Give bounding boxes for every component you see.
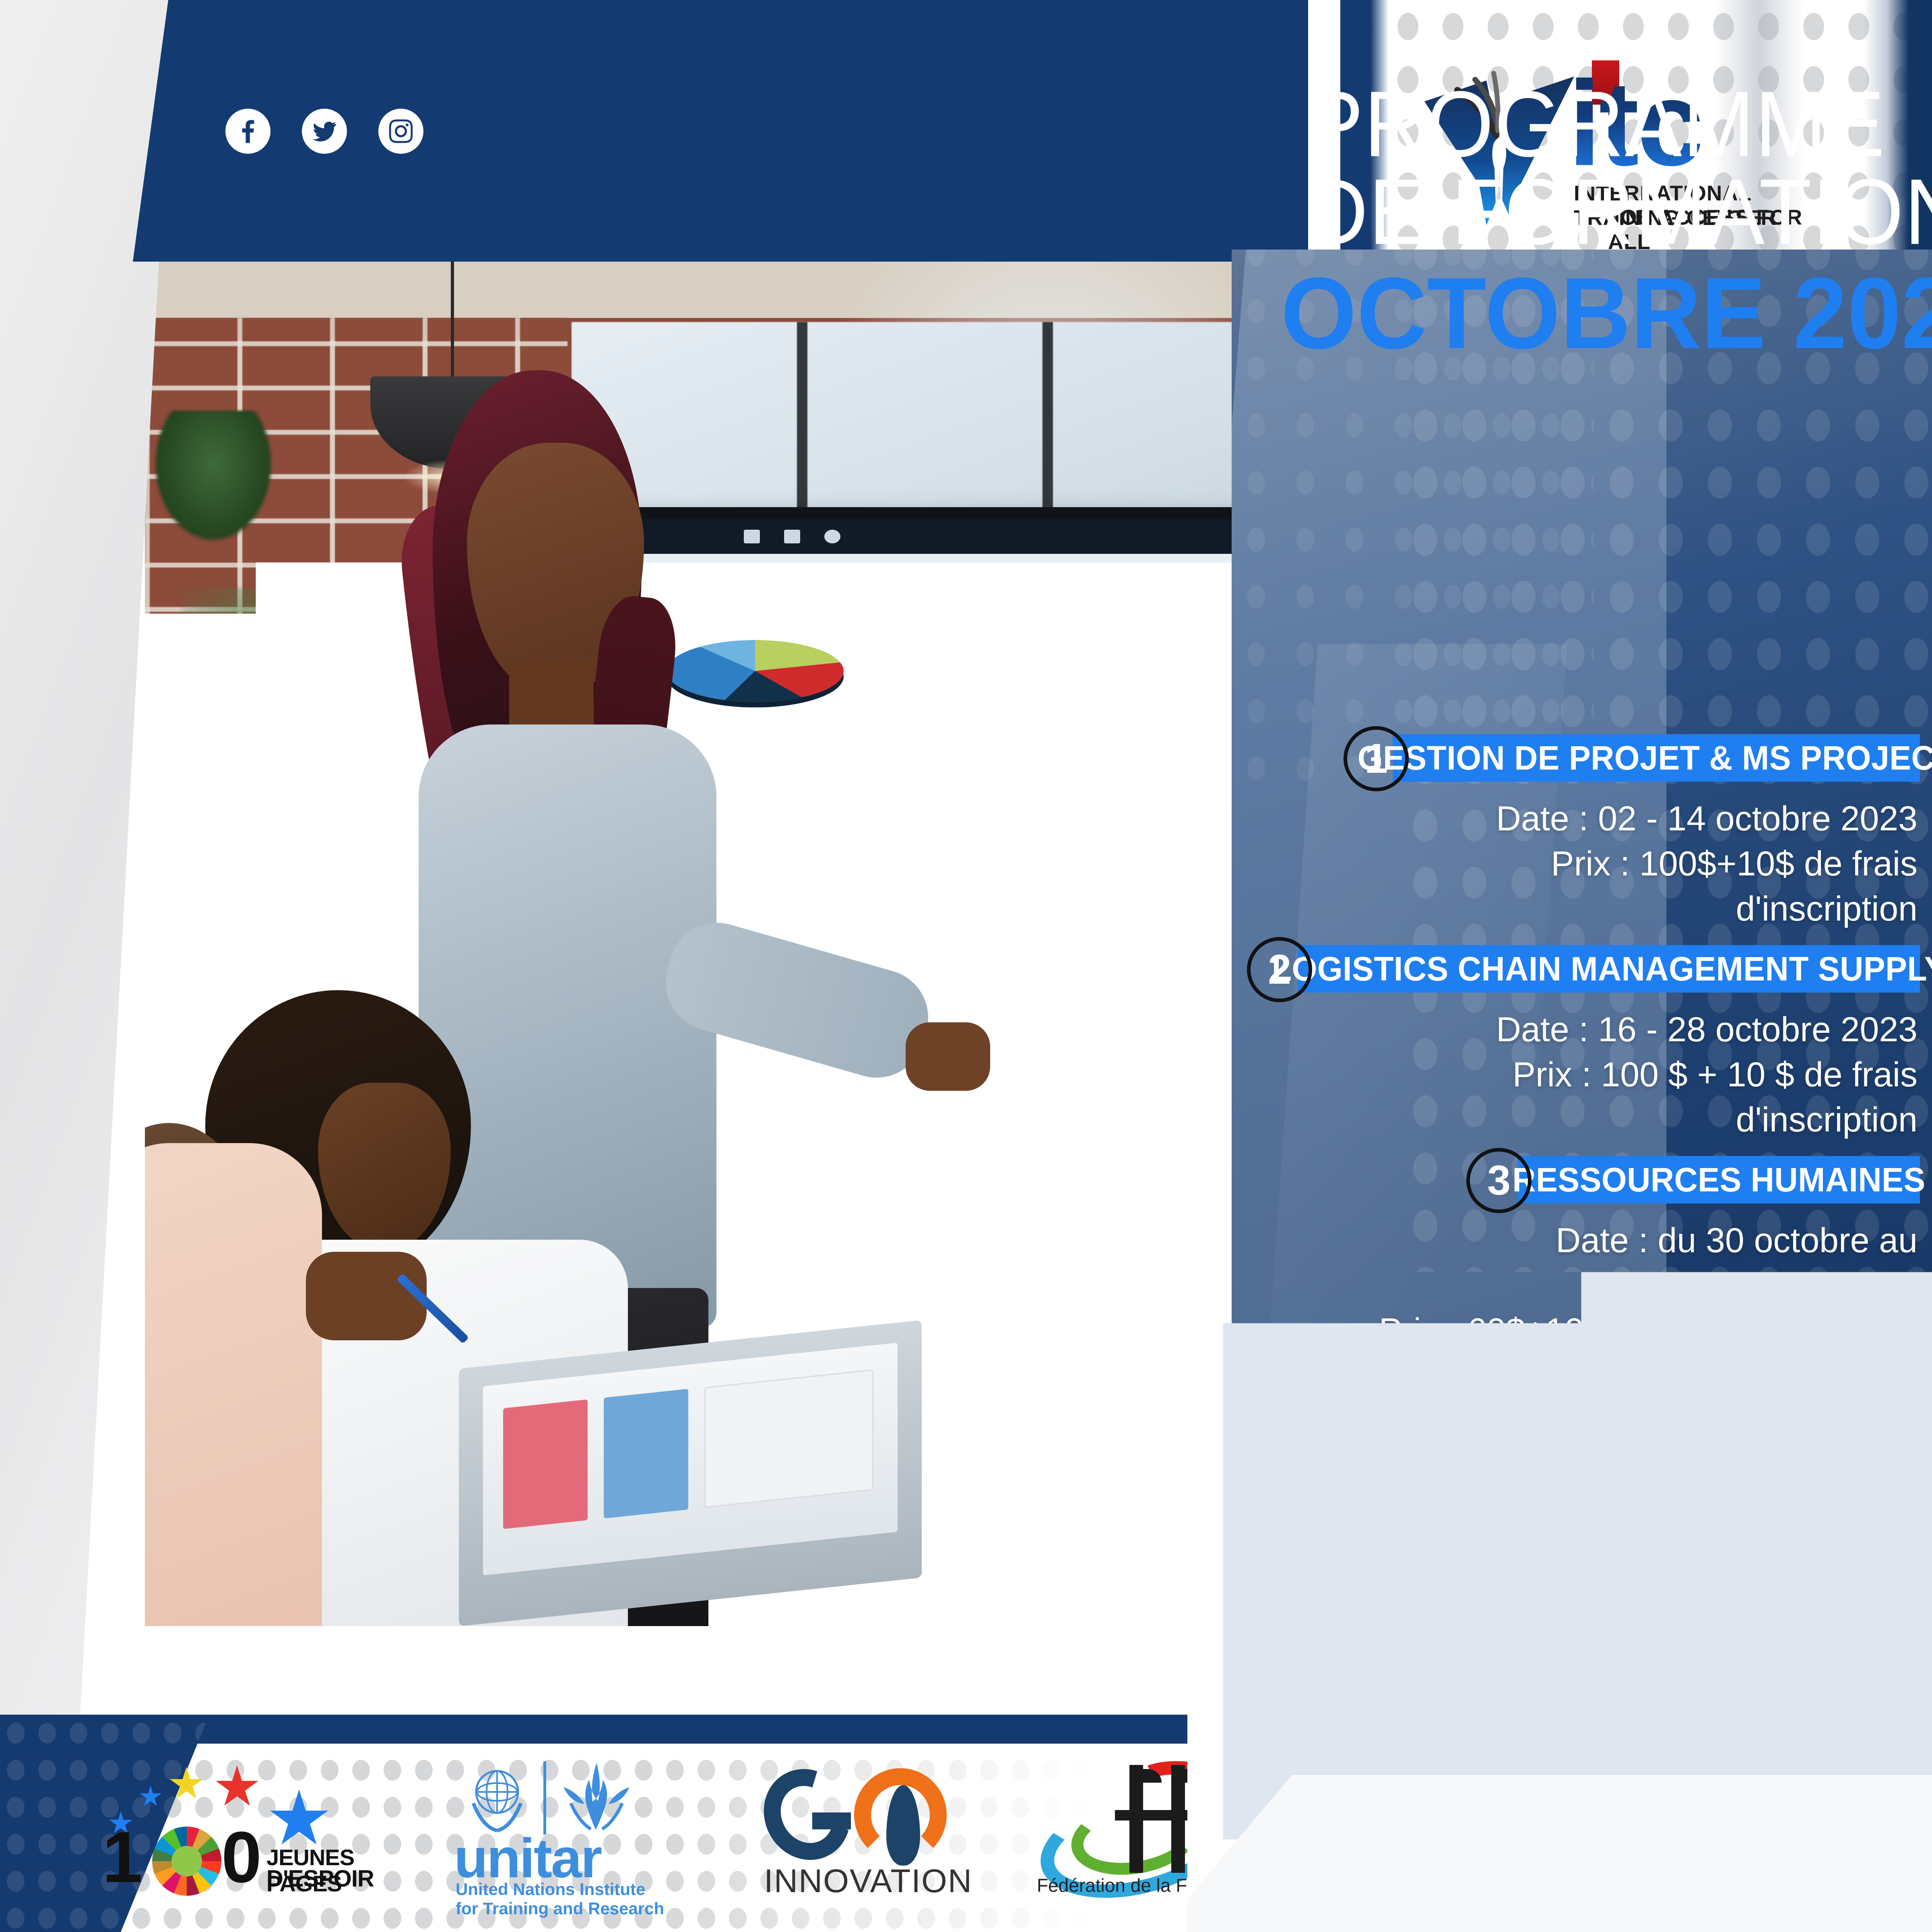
facebook-icon[interactable]: [225, 109, 270, 154]
pie-chart-small: [872, 617, 985, 729]
poster-root: itc INTERNATIONAL TRAINING CENTER JOB AC…: [0, 0, 1932, 1932]
partner-number-0: 0: [221, 1827, 262, 1888]
course-date-2: 4 Novembre 2023.: [1224, 1263, 1918, 1308]
address-goma: Boulevard Kanya Mulanga,: [1540, 1538, 1918, 1573]
ffp-letter-f2-bar: [1157, 1810, 1187, 1821]
unitar-wordmark: unitar: [454, 1831, 601, 1886]
course-price-line-1: Prix : 100 $ + 10 $ de frais: [1224, 1052, 1918, 1097]
city-tag-kinshasa: (KINSHASA): [1341, 1453, 1532, 1490]
course-title-bar: RESSOURCES HUMAINES: [1517, 1156, 1920, 1203]
course-price-line-2: d'inscription: [1224, 886, 1918, 931]
ffp-letter-f1-bar: [1115, 1810, 1158, 1821]
laptop: [459, 1320, 922, 1626]
partner-footer: 1 0 JEUNES PAGES D'ESPOIR: [0, 1715, 1187, 1932]
course-title-bar: GESTION DE PROJET & MS PROJECT: [1393, 734, 1920, 782]
ffp-tagline: Fédération de la Formation Professionnel…: [1037, 1874, 1187, 1896]
social-links[interactable]: [225, 109, 423, 154]
course-title: LOGISTICS CHAIN MANAGEMENT SUPPLY: [1272, 949, 1932, 989]
course-list: GESTION DE PROJET & MS PROJECT 1 Date : …: [1224, 724, 1932, 1357]
kpi-tile: [1026, 958, 1215, 1026]
hand: [306, 1252, 427, 1340]
second-audience-person: [145, 1143, 322, 1626]
course-item: LOGISTICS CHAIN MANAGEMENT SUPPLY 2 Date…: [1224, 935, 1932, 1142]
laptop-screen: [483, 1343, 898, 1575]
go-letter-g-bar: [812, 1812, 851, 1829]
course-date: Date : 16 - 28 octobre 2023: [1224, 1007, 1918, 1052]
course-number-badge: 2: [1247, 937, 1312, 1002]
logo-divider: [543, 1761, 546, 1835]
course-price-line-1: Prix : 60$+10$ de frais d'inscription: [1224, 1308, 1918, 1353]
online-tag: & en ligne: [1515, 1622, 1666, 1667]
search-icon: [824, 530, 840, 543]
kpi-tile: [1026, 708, 1215, 829]
course-details: Date : 02 - 14 octobre 2023 Prix : 100$+…: [1224, 796, 1932, 931]
course-item: GESTION DE PROJET & MS PROJECT 1 Date : …: [1224, 724, 1932, 931]
address-line-4: Immeuble Diplomate.: [1233, 1577, 1918, 1620]
partner-logos: 1 0 JEUNES PAGES D'ESPOIR: [101, 1759, 1187, 1896]
phone-number-1[interactable]: +243 821931777: [1233, 1727, 1918, 1783]
address-line-2: AvenueColonel Mondjiba,: [1233, 1492, 1918, 1534]
title-accent: OCTOBRE 2023: [1281, 261, 1884, 366]
partner-logo-ffp: Fédération de la Formation Professionnel…: [1034, 1761, 1187, 1894]
star-icon: [169, 1767, 204, 1802]
title-line-1: PROGRAMME: [1306, 80, 1884, 168]
shelf-rail: [153, 733, 306, 741]
partner-logo-100-jeunes-pages-despoir: 1 0 JEUNES PAGES D'ESPOIR: [101, 1767, 382, 1888]
mail-icon: [784, 530, 800, 543]
laptop-card: [704, 1369, 873, 1508]
sdg-wheel-icon: [152, 1827, 221, 1896]
course-title: GESTION DE PROJET & MS PROJECT: [1358, 739, 1932, 778]
page-title: PROGRAMME DE FORMATION OCTOBRE 2023: [1256, 80, 1884, 366]
hero-photo: [145, 258, 1256, 1626]
shelf-rail: [153, 869, 306, 878]
hand: [906, 1022, 990, 1091]
course-header: LOGISTICS CHAIN MANAGEMENT SUPPLY 2: [1224, 935, 1932, 1000]
online-row: & en ligne Google Meet: [1233, 1622, 1918, 1667]
partner-text-line-2: D'ESPOIR: [266, 1865, 374, 1892]
partner-number-1: 1: [102, 1827, 142, 1888]
address-kinshasa: Concession COTEX N° 63,: [1540, 1453, 1918, 1488]
course-price-line-2: d'inscription: [1224, 1097, 1918, 1142]
course-number-badge: 1: [1344, 726, 1409, 791]
course-details: Date : 16 - 28 octobre 2023 Prix : 100 $…: [1224, 1007, 1932, 1142]
course-number-badge: 3: [1466, 1148, 1532, 1213]
course-header: RESSOURCES HUMAINES 3: [1224, 1146, 1932, 1211]
lamp-cord: [451, 258, 454, 378]
twitter-icon[interactable]: [302, 109, 347, 154]
go-innovation-word: INNOVATION: [764, 1862, 972, 1900]
platform-name: Google Meet: [1729, 1626, 1918, 1664]
course-title: RESSOURCES HUMAINES: [1512, 1160, 1925, 1199]
laptop-card: [604, 1389, 688, 1519]
course-details: Date : du 30 octobre au 4 Novembre 2023.…: [1224, 1218, 1932, 1353]
bottom-white-band: [1159, 1775, 1932, 1932]
course-item: RESSOURCES HUMAINES 3 Date : du 30 octob…: [1224, 1146, 1932, 1353]
plant: [153, 411, 274, 543]
google-meet-icon: [1678, 1625, 1717, 1664]
instagram-icon[interactable]: [378, 109, 423, 154]
star-icon: [139, 1785, 162, 1808]
address-line-1: (KINSHASA) Concession COTEX N° 63,: [1233, 1449, 1918, 1492]
course-date: Date : 02 - 14 octobre 2023: [1224, 796, 1918, 841]
cylinder-graphic: [1066, 865, 1170, 958]
star-icon: [215, 1765, 259, 1810]
title-line-2: DE FORMATION: [1306, 168, 1884, 256]
city-tag-goma: (GOMA): [1404, 1538, 1532, 1576]
course-title-bar: LOGISTICS CHAIN MANAGEMENT SUPPLY: [1298, 945, 1920, 993]
shelf: [145, 680, 318, 986]
header-bar: [0, 0, 1308, 262]
email-address[interactable]: ongitcrdc@gmail.com: [1233, 1679, 1918, 1727]
unitar-sub-1: United Nations Institute: [456, 1880, 645, 1899]
laptop-card: [503, 1399, 588, 1529]
course-header: GESTION DE PROJET & MS PROJECT 1: [1224, 724, 1932, 789]
kpi-tile: [1026, 568, 1215, 700]
un-emblem-icon: [459, 1759, 535, 1835]
unitar-bird-icon: [556, 1759, 637, 1835]
location-pin-icon: [1239, 1454, 1287, 1502]
unitar-sub-2: for Training and Research: [456, 1899, 664, 1918]
kpi-tile: [1026, 1034, 1215, 1091]
address-line-3: (GOMA) Boulevard Kanya Mulanga,: [1233, 1534, 1918, 1577]
bar-chart: [864, 802, 993, 870]
partner-logo-unitar: unitar United Nations Institute for Trai…: [447, 1759, 696, 1896]
star-icon: [269, 1790, 329, 1850]
course-price-line-1: Prix : 100$+10$ de frais: [1224, 841, 1918, 886]
course-date: Date : du 30 octobre au: [1224, 1218, 1918, 1263]
partner-logo-go-innovation: INNOVATION: [761, 1761, 970, 1894]
